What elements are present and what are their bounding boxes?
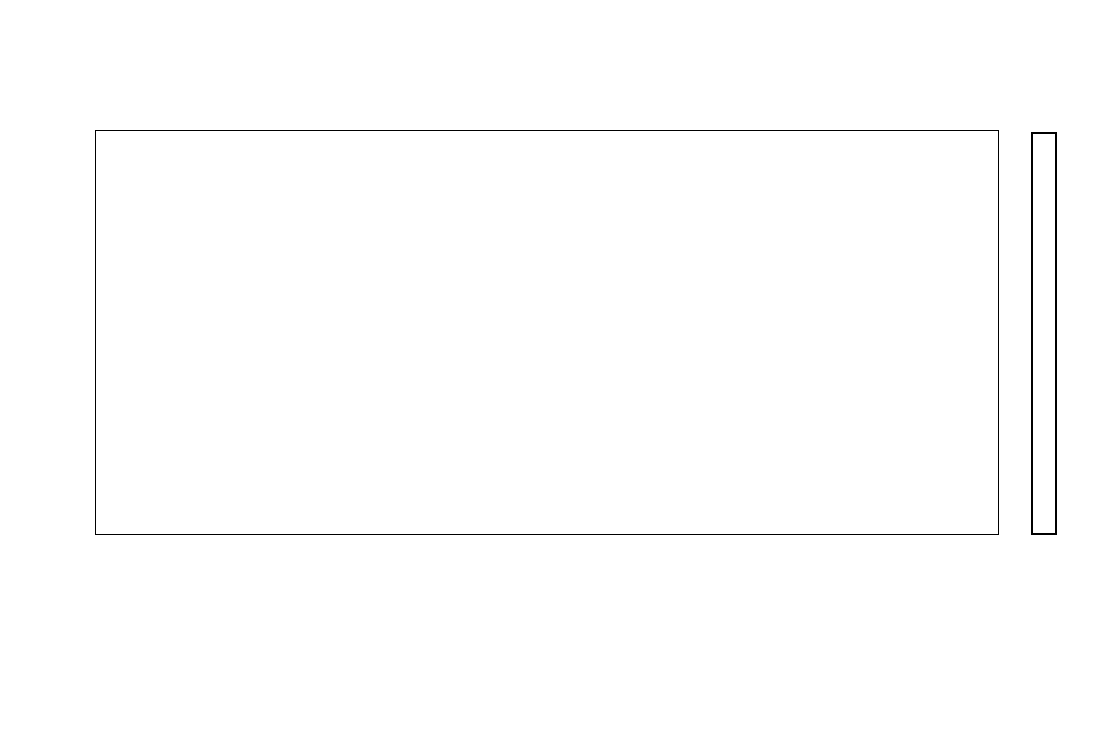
- heatmap-plot-area: [95, 130, 999, 535]
- heatmap-canvas: [96, 131, 998, 534]
- colorbar-canvas: [1033, 134, 1055, 533]
- plot-page: [0, 0, 1100, 750]
- colorbar: [1031, 132, 1057, 535]
